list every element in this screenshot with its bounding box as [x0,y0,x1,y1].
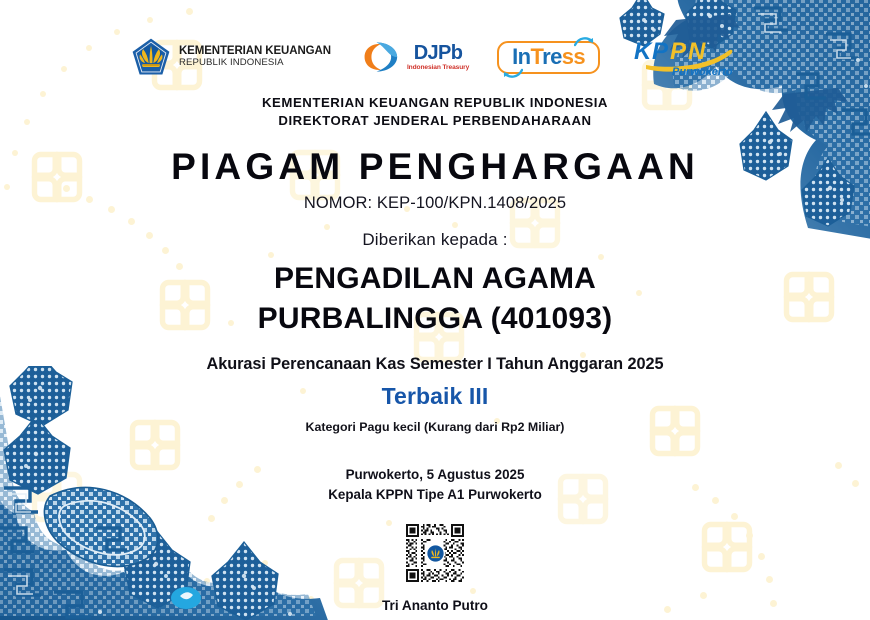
certificate-page: KEMENTERIAN KEUANGAN REPUBLIK INDONESIA … [0,0,870,620]
kemenkeu-shield-icon [130,36,172,78]
kemenkeu-line2: REPUBLIK INDONESIA [179,58,331,69]
certificate-content: KEMENTERIAN KEUANGAN REPUBLIK INDONESIA … [0,0,870,620]
award-description: Akurasi Perencanaan Kas Semester I Tahun… [207,355,664,374]
recipient-name: PENGADILAN AGAMA PURBALINGGA (401093) [258,259,613,339]
djpb-line1: DJPb [414,43,463,63]
qr-embedded-kemenkeu-icon [425,543,445,563]
svg-text:P: P [670,38,687,65]
signature-position: Kepala KPPN Tipe A1 Purwokerto [328,485,542,505]
intress-part-in: In [512,44,530,69]
svg-text:Purwokerto: Purwokerto [672,66,733,78]
intress-arrow-icon [503,67,523,79]
given-to-label: Diberikan kepada : [362,230,507,250]
djpb-logo: DJPb Indonesian Treasury [359,39,469,75]
org-header-line2: DIREKTORAT JENDERAL PERBENDAHARAAN [262,112,608,130]
djpb-line2: Indonesian Treasury [407,65,469,72]
recipient-line2: PURBALINGGA (401093) [258,299,613,339]
kemenkeu-logo: KEMENTERIAN KEUANGAN REPUBLIK INDONESIA [130,36,331,78]
svg-text:P: P [652,38,669,65]
signer-name: Tri Ananto Putro [382,598,488,613]
org-header-line1: KEMENTERIAN KEUANGAN REPUBLIK INDONESIA [262,94,608,112]
kppn-logo: K P P N Purwokerto [628,35,740,79]
award-category: Kategori Pagu kecil (Kurang dari Rp2 Mil… [306,420,565,434]
djpb-swirl-icon [359,39,401,75]
digital-signature-qr-code[interactable] [404,522,466,584]
organization-header: KEMENTERIAN KEUANGAN REPUBLIK INDONESIA … [262,94,608,130]
svg-text:N: N [688,38,706,65]
certificate-title: PIAGAM PENGHARGAAN [171,148,699,185]
intress-logo: InTress [497,41,600,74]
recipient-line1: PENGADILAN AGAMA [258,259,613,299]
certificate-number: NOMOR: KEP-100/KPN.1408/2025 [304,194,566,213]
intress-part-t: T [531,44,543,69]
award-rank: Terbaik III [382,383,489,410]
intress-arrow-icon [574,36,594,48]
svg-text:K: K [634,38,653,65]
signature-block: Purwokerto, 5 Agustus 2025 Kepala KPPN T… [328,465,542,505]
djpb-logo-text: DJPb Indonesian Treasury [407,43,469,72]
intress-wordmark: InTress [512,46,585,68]
intress-part-re: re [542,44,562,69]
signature-place-date: Purwokerto, 5 Agustus 2025 [328,465,542,485]
logo-row: KEMENTERIAN KEUANGAN REPUBLIK INDONESIA … [130,32,740,82]
kemenkeu-logo-text: KEMENTERIAN KEUANGAN REPUBLIK INDONESIA [179,45,331,69]
